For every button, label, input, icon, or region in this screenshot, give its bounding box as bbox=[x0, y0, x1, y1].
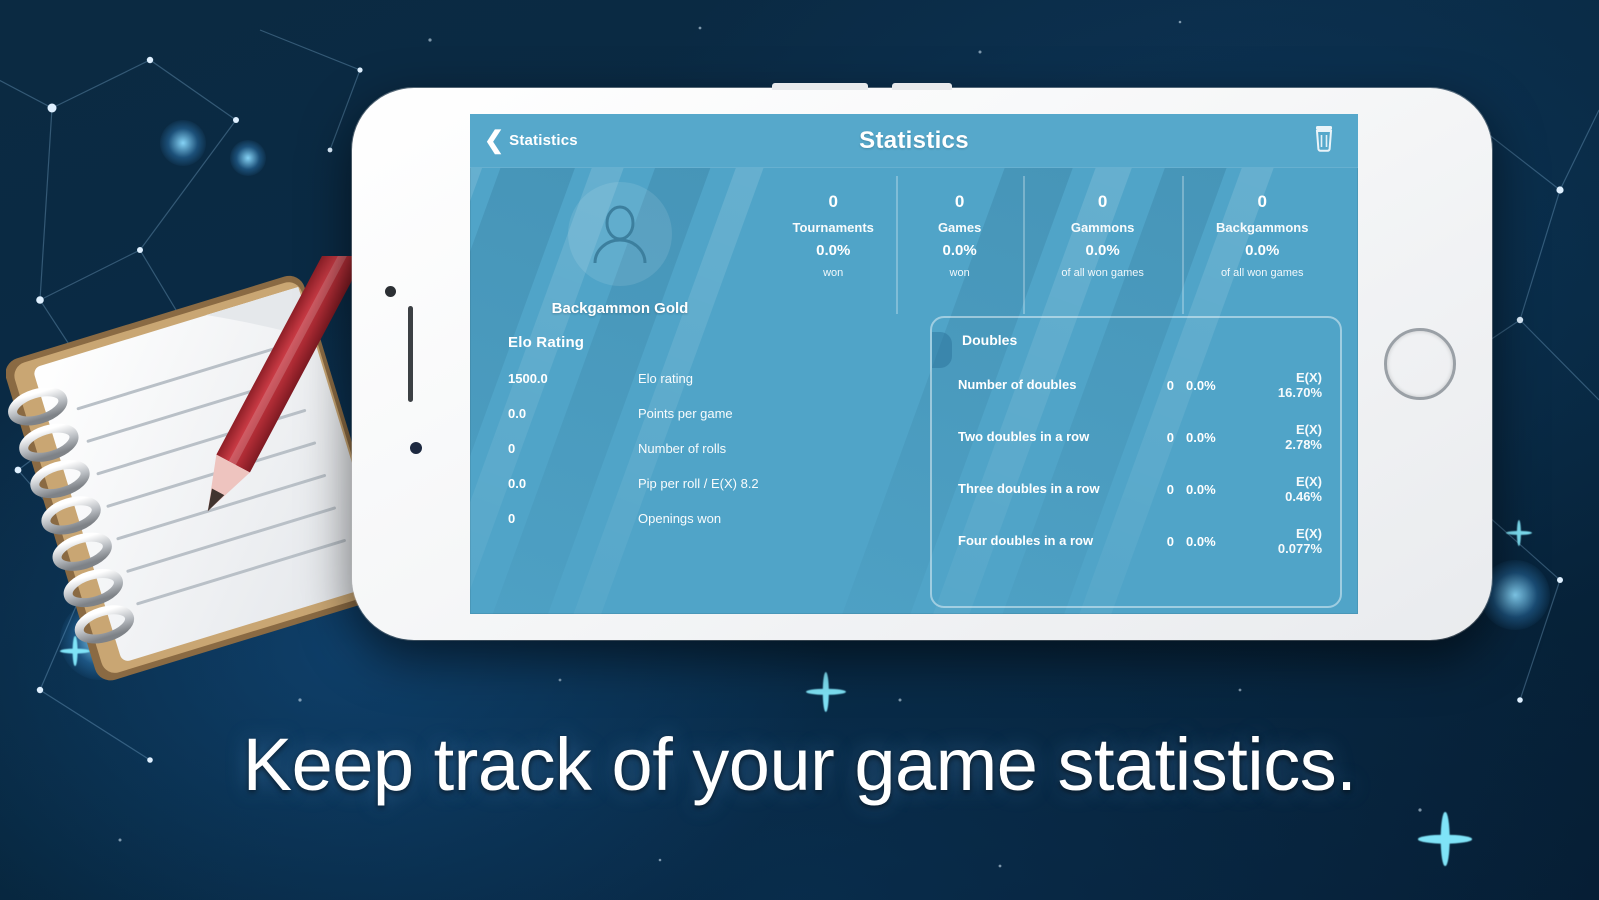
doubles-expected: E(X) 0.46% bbox=[1264, 474, 1322, 504]
doubles-percent: 0.0% bbox=[1174, 378, 1264, 393]
stat-label: Backgammons bbox=[1186, 220, 1338, 235]
doubles-row: Number of doubles 0 0.0% E(X) 16.70% bbox=[958, 370, 1322, 400]
statistics-content: Backgammon Gold 0 Tournaments 0.0% won 0… bbox=[470, 168, 1358, 614]
elo-label: Openings won bbox=[638, 511, 721, 526]
stat-value: 0 bbox=[900, 192, 1018, 212]
doubles-label: Number of doubles bbox=[958, 377, 1148, 393]
elo-label: Pip per roll / E(X) 8.2 bbox=[638, 476, 759, 491]
phone-mockup: ❮ Statistics Statistics bbox=[352, 88, 1492, 640]
doubles-expected: E(X) 2.78% bbox=[1264, 422, 1322, 452]
stat-column-games: 0 Games 0.0% won bbox=[896, 174, 1022, 328]
stat-percent: 0.0% bbox=[774, 242, 892, 259]
elo-value: 1500.0 bbox=[508, 371, 638, 386]
elo-value: 0.0 bbox=[508, 476, 638, 491]
elo-row: 1500.0 Elo rating bbox=[508, 371, 916, 386]
doubles-row: Four doubles in a row 0 0.0% E(X) 0.077% bbox=[958, 526, 1322, 556]
volume-button[interactable] bbox=[772, 83, 868, 90]
stat-percent: 0.0% bbox=[1186, 242, 1338, 259]
delete-statistics-button[interactable] bbox=[1312, 124, 1336, 157]
doubles-percent: 0.0% bbox=[1174, 482, 1264, 497]
front-camera-icon bbox=[385, 286, 396, 297]
stat-sublabel: won bbox=[900, 267, 1018, 279]
stat-percent: 0.0% bbox=[900, 242, 1018, 259]
elo-rating-pane: Elo Rating 1500.0 Elo rating 0.0 Points … bbox=[486, 328, 916, 608]
stat-label: Tournaments bbox=[774, 220, 892, 235]
chevron-left-icon: ❮ bbox=[484, 129, 504, 153]
elo-label: Elo rating bbox=[638, 371, 693, 386]
stat-column-gammons: 0 Gammons 0.0% of all won games bbox=[1023, 174, 1183, 328]
page-title: Statistics bbox=[470, 127, 1358, 155]
doubles-label: Four doubles in a row bbox=[958, 533, 1148, 549]
doubles-count: 0 bbox=[1148, 482, 1174, 497]
earpiece-speaker bbox=[408, 306, 413, 402]
doubles-expected: E(X) 16.70% bbox=[1264, 370, 1322, 400]
stat-sublabel: of all won games bbox=[1027, 267, 1179, 279]
stat-value: 0 bbox=[774, 192, 892, 212]
doubles-count: 0 bbox=[1148, 534, 1174, 549]
elo-row: 0 Number of rolls bbox=[508, 441, 916, 456]
elo-label: Number of rolls bbox=[638, 441, 726, 456]
doubles-expected: E(X) 0.077% bbox=[1264, 526, 1322, 556]
proximity-sensor-icon bbox=[410, 442, 422, 454]
stat-column-tournaments: 0 Tournaments 0.0% won bbox=[770, 174, 896, 328]
elo-value: 0 bbox=[508, 441, 638, 456]
doubles-row: Two doubles in a row 0 0.0% E(X) 2.78% bbox=[958, 422, 1322, 452]
stat-percent: 0.0% bbox=[1027, 242, 1179, 259]
doubles-row: Three doubles in a row 0 0.0% E(X) 0.46% bbox=[958, 474, 1322, 504]
elo-rating-title: Elo Rating bbox=[508, 334, 916, 351]
doubles-label: Two doubles in a row bbox=[958, 429, 1148, 445]
doubles-tab-marker bbox=[930, 332, 952, 368]
elo-value: 0.0 bbox=[508, 406, 638, 421]
stat-value: 0 bbox=[1186, 192, 1338, 212]
avatar[interactable] bbox=[568, 182, 672, 286]
elo-row: 0 Openings won bbox=[508, 511, 916, 526]
elo-row: 0.0 Pip per roll / E(X) 8.2 bbox=[508, 476, 916, 491]
summary-stat-columns: 0 Tournaments 0.0% won 0 Games 0.0% won … bbox=[770, 174, 1358, 328]
detail-panes: Elo Rating 1500.0 Elo rating 0.0 Points … bbox=[470, 328, 1358, 608]
summary-section: Backgammon Gold 0 Tournaments 0.0% won 0… bbox=[470, 168, 1358, 328]
elo-label: Points per game bbox=[638, 406, 733, 421]
home-button[interactable] bbox=[1384, 328, 1456, 400]
back-button[interactable]: ❮ Statistics bbox=[484, 129, 578, 153]
navigation-bar: ❮ Statistics Statistics bbox=[470, 114, 1358, 168]
doubles-percent: 0.0% bbox=[1174, 430, 1264, 445]
doubles-percent: 0.0% bbox=[1174, 534, 1264, 549]
doubles-label: Three doubles in a row bbox=[958, 481, 1148, 497]
phone-screen: ❮ Statistics Statistics bbox=[470, 114, 1358, 614]
doubles-count: 0 bbox=[1148, 378, 1174, 393]
elo-row: 0.0 Points per game bbox=[508, 406, 916, 421]
stat-sublabel: of all won games bbox=[1186, 267, 1338, 279]
profile-column: Backgammon Gold bbox=[470, 174, 770, 328]
username: Backgammon Gold bbox=[552, 300, 689, 317]
elo-value: 0 bbox=[508, 511, 638, 526]
stat-label: Games bbox=[900, 220, 1018, 235]
doubles-title: Doubles bbox=[962, 332, 1322, 348]
notepad-illustration bbox=[6, 256, 406, 686]
back-button-label: Statistics bbox=[509, 132, 578, 149]
trash-icon bbox=[1312, 124, 1336, 152]
person-avatar-icon bbox=[587, 201, 653, 267]
caption-text: Keep track of your game statistics. bbox=[0, 722, 1599, 807]
doubles-pane: Doubles Number of doubles 0 0.0% E(X) 16… bbox=[930, 316, 1342, 608]
power-button[interactable] bbox=[892, 83, 952, 90]
stat-sublabel: won bbox=[774, 267, 892, 279]
doubles-count: 0 bbox=[1148, 430, 1174, 445]
stat-value: 0 bbox=[1027, 192, 1179, 212]
stat-column-backgammons: 0 Backgammons 0.0% of all won games bbox=[1182, 174, 1342, 328]
stat-label: Gammons bbox=[1027, 220, 1179, 235]
